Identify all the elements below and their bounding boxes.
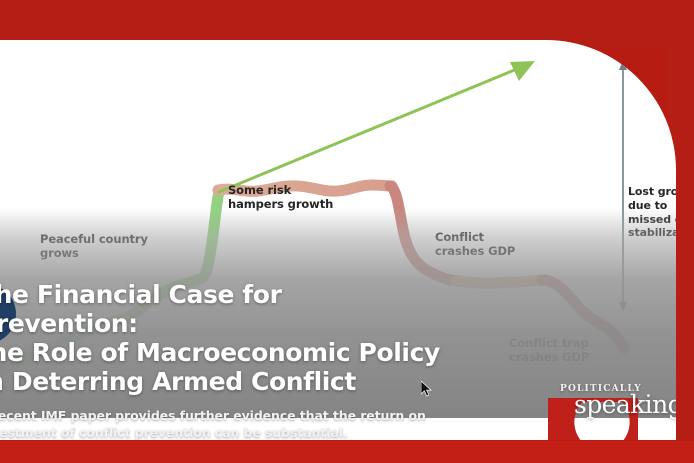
brand-word-speaking: speaking — [574, 390, 676, 419]
annotation-conflict-trap-crashes-gdp: Conflict trap crashes GDP — [509, 336, 589, 365]
title-block: The Financial Case for Prevention: the R… — [0, 280, 448, 440]
page-title: The Financial Case for Prevention: the R… — [0, 280, 448, 396]
annotation-conflict-crashes-gdp: Conflict crashes GDP — [435, 230, 515, 259]
page-subtitle: A recent IMF paper provides further evid… — [0, 408, 448, 440]
annotation-some-risk-hampers-growth: Some risk hampers growth — [228, 183, 333, 212]
politically-speaking-logo[interactable]: POLITICALLY speaking — [542, 380, 676, 440]
annotation-peaceful-country-grows: Peaceful country grows — [40, 232, 148, 261]
annotation-lost-growth: Lost grow due to missed e stabiliza — [628, 185, 676, 240]
video-frame: Peaceful country grows Some risk hampers… — [0, 0, 694, 463]
frame-border-bottom — [0, 441, 694, 463]
mouse-pointer-cursor — [421, 381, 433, 397]
content-card: Peaceful country grows Some risk hampers… — [0, 40, 676, 440]
lost-growth-gap-arrow — [619, 60, 627, 312]
chart-line-conflict-trap — [456, 280, 546, 283]
counterfactual-growth-arrow — [219, 61, 535, 192]
